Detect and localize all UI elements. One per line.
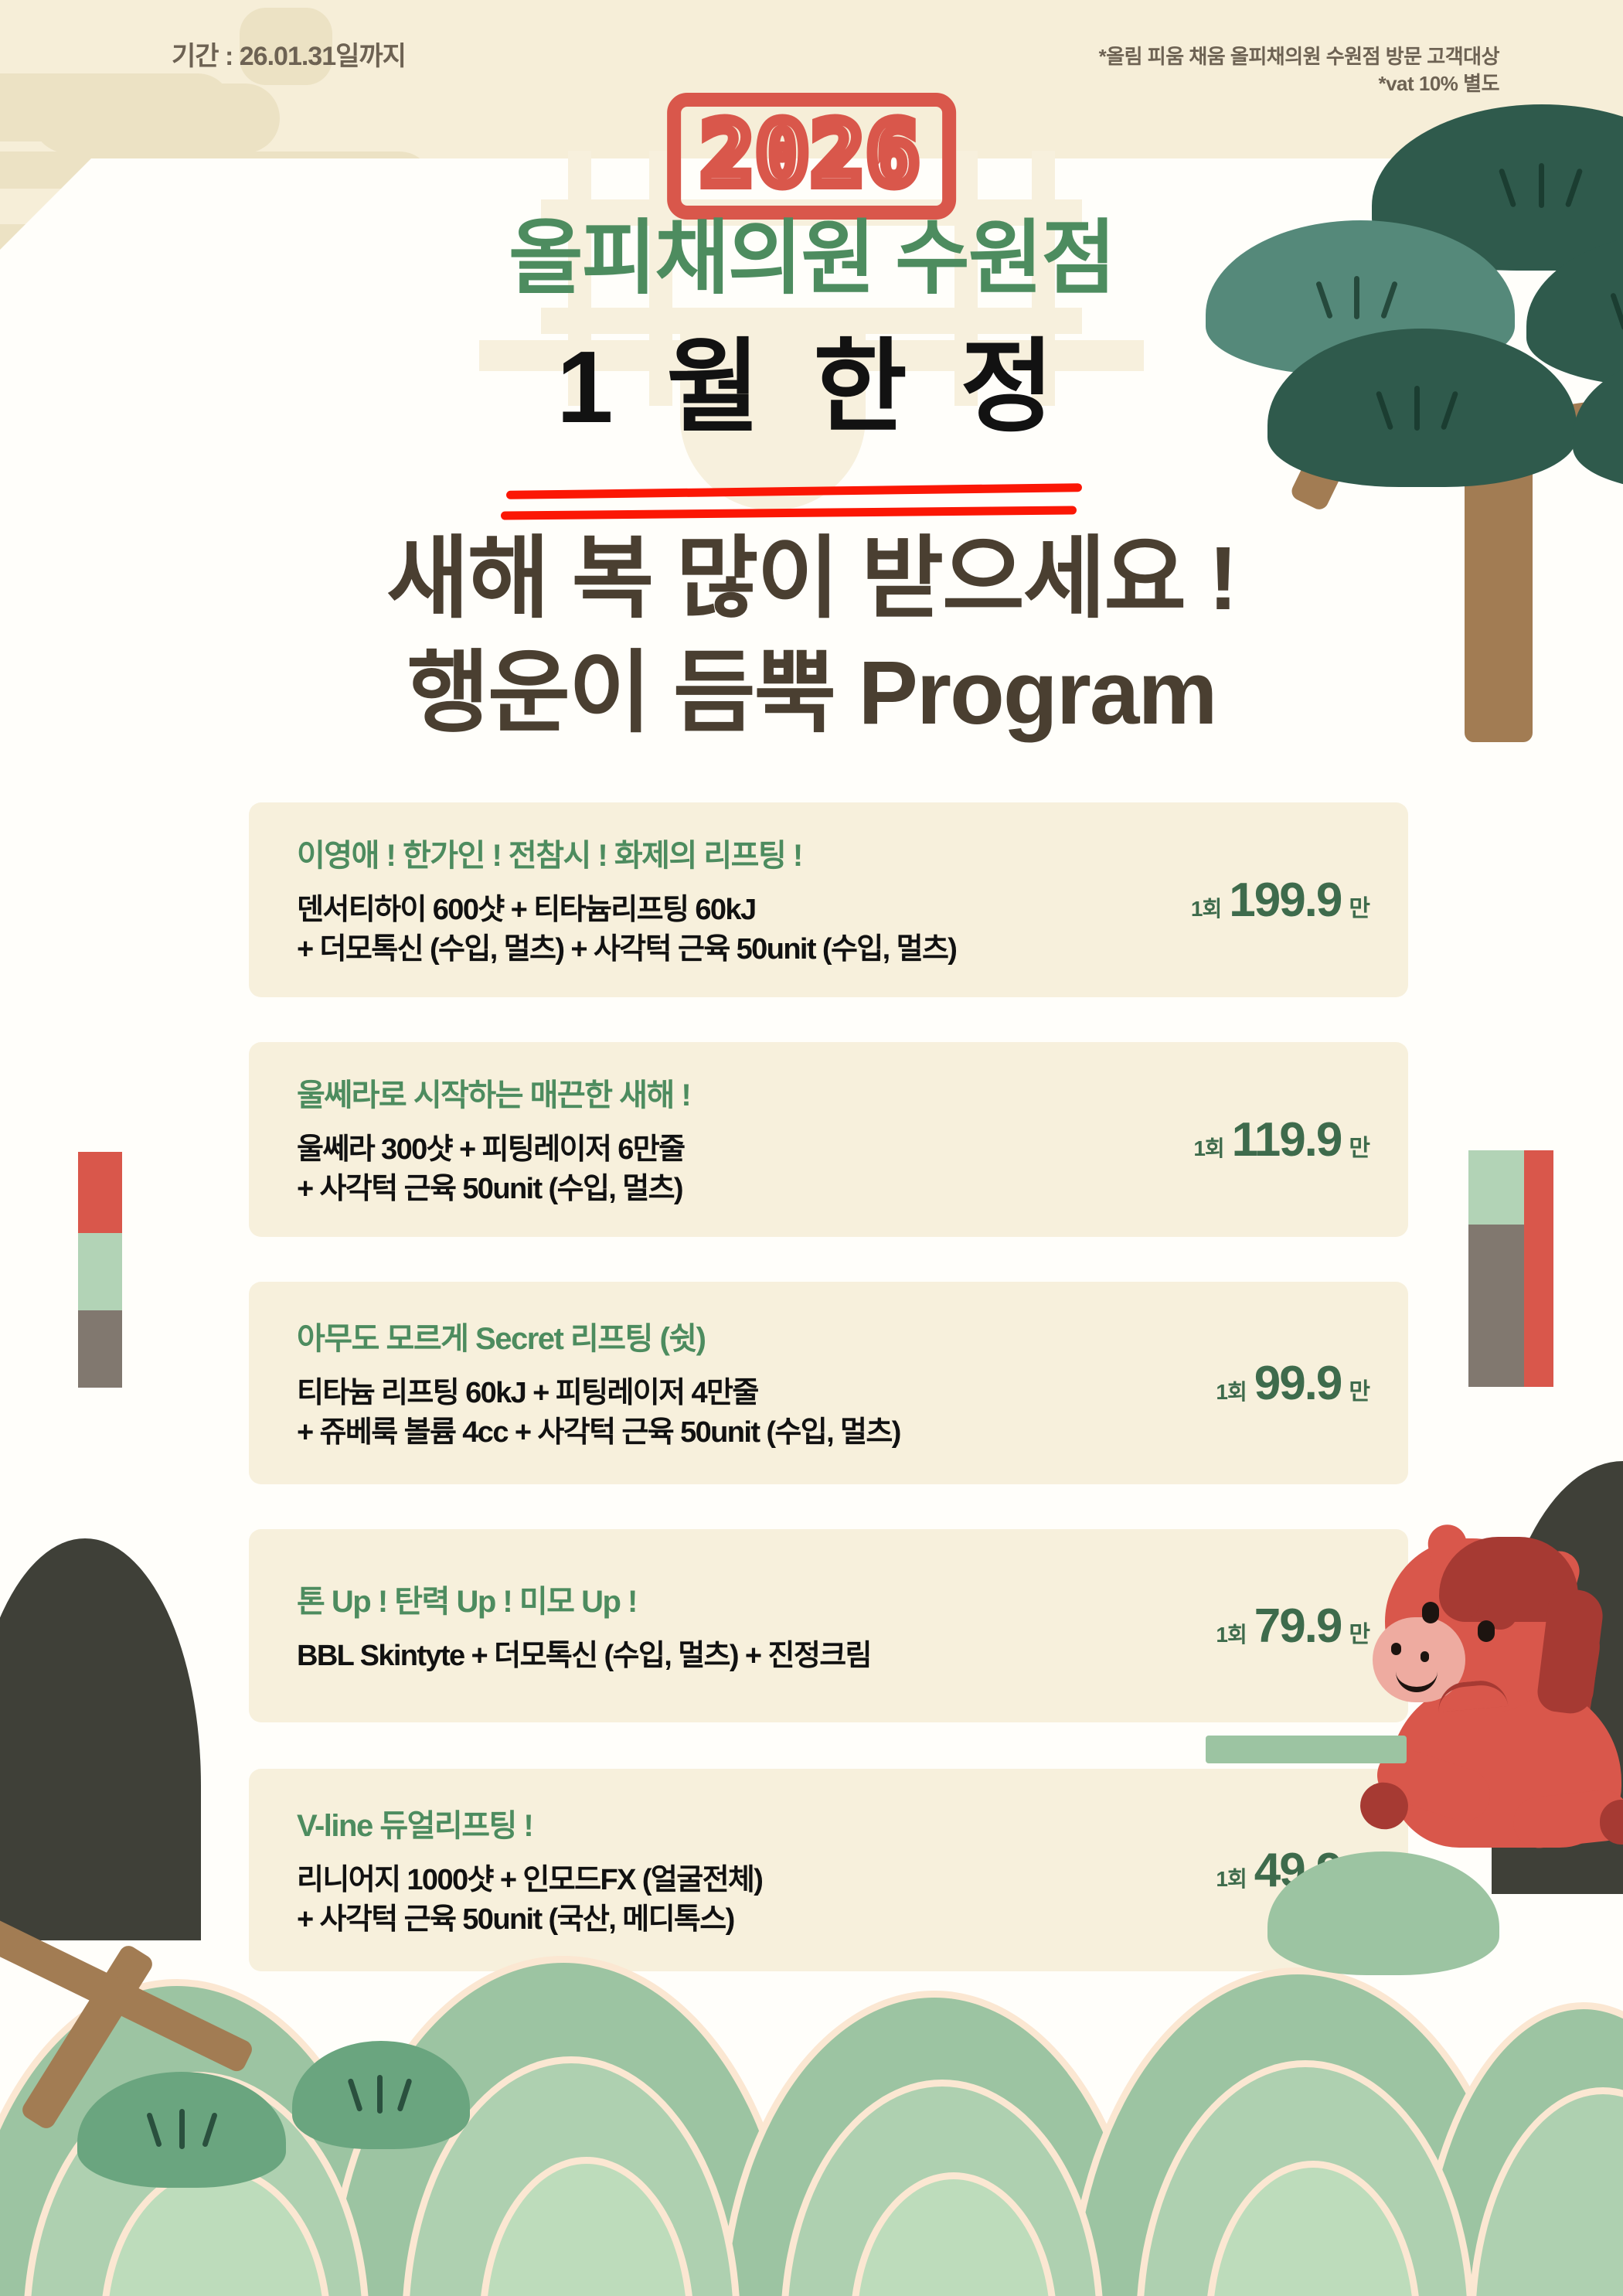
price-unit: 만 bbox=[1349, 1129, 1370, 1163]
program-text-block: 아무도 모르게 Secret 리프팅 (쉿) 티타늄 리프팅 60kJ + 피팅… bbox=[297, 1313, 1203, 1453]
horse-eye-right bbox=[1478, 1620, 1495, 1642]
program-title: 울쎄라로 시작하는 매끈한 새해 ! bbox=[297, 1070, 1181, 1115]
program-title: 이영애 ! 한가인 ! 전참시 ! 화제의 리프팅 ! bbox=[297, 830, 1179, 875]
horse-nostril-left bbox=[1391, 1643, 1401, 1655]
program-description: 리니어지 1000샷 + 인모드FX (얼굴전체) + 사각턱 근육 50uni… bbox=[297, 1861, 1203, 1940]
price-number: 199.9 bbox=[1229, 873, 1341, 928]
disclaimer-block: *올림 피움 채움 올피채의원 수원점 방문 고객대상 *vat 10% 별도 bbox=[1099, 43, 1499, 98]
price-number: 49.9 bbox=[1254, 1843, 1342, 1898]
price-count-label: 1회 bbox=[1193, 1132, 1223, 1163]
price-count-label: 1회 bbox=[1216, 1618, 1246, 1649]
horse-mane-tuft-a bbox=[1444, 1576, 1479, 1620]
month-limited-title: 1 월 한 정 bbox=[0, 336, 1623, 438]
poster-root: 기간 : 26.01.31일까지 *올림 피움 채움 올피채의원 수원점 방문 … bbox=[0, 0, 1623, 2296]
year-badge: 2026 bbox=[667, 93, 956, 220]
program-title: V-line 듀얼리프팅 ! bbox=[297, 1800, 1203, 1845]
price-unit: 만 bbox=[1349, 889, 1370, 923]
program-text-block: 이영애 ! 한가인 ! 전참시 ! 화제의 리프팅 ! 덴서티하이 600샷 +… bbox=[297, 830, 1179, 969]
program-card[interactable]: 이영애 ! 한가인 ! 전참시 ! 화제의 리프팅 ! 덴서티하이 600샷 +… bbox=[249, 802, 1408, 997]
program-title: 아무도 모르게 Secret 리프팅 (쉿) bbox=[297, 1313, 1203, 1358]
disclaimer-line-1: *올림 피움 채움 올피채의원 수원점 방문 고객대상 bbox=[1099, 43, 1499, 70]
program-card[interactable]: 톤 Up ! 탄력 Up ! 미모 Up ! BBL Skintyte + 더모… bbox=[249, 1529, 1408, 1722]
horse-mascot bbox=[1345, 1515, 1623, 1879]
program-text-block: V-line 듀얼리프팅 ! 리니어지 1000샷 + 인모드FX (얼굴전체)… bbox=[297, 1800, 1203, 1940]
headline-line-2: 행운이 듬뿍 Program bbox=[0, 648, 1623, 738]
price-number: 79.9 bbox=[1254, 1599, 1342, 1654]
price-unit: 만 bbox=[1349, 1372, 1370, 1406]
clinic-name: 올피채의원 수원점 bbox=[0, 218, 1623, 299]
year-badge-text: 2026 bbox=[701, 104, 922, 205]
program-price: 1회 199.9 만 bbox=[1191, 873, 1374, 928]
price-count-label: 1회 bbox=[1191, 892, 1221, 923]
hill-front-3 bbox=[850, 2172, 1057, 2296]
program-description: 울쎄라 300샷 + 피팅레이저 6만줄 + 사각턱 근육 50unit (수입… bbox=[297, 1130, 1181, 1209]
price-count-label: 1회 bbox=[1216, 1375, 1246, 1406]
price-count-label: 1회 bbox=[1216, 1862, 1246, 1893]
hill-front-2 bbox=[479, 2157, 694, 2296]
program-description: 덴서티하이 600샷 + 티타늄리프팅 60kJ + 더모톡신 (수입, 멀츠)… bbox=[297, 891, 1179, 969]
program-title: 톤 Up ! 탄력 Up ! 미모 Up ! bbox=[297, 1576, 1203, 1621]
program-description: 티타늄 리프팅 60kJ + 피팅레이저 4만줄 + 쥬베룩 볼륨 4cc + … bbox=[297, 1374, 1203, 1453]
headline-line-1: 새해 복 많이 받으세요 ! bbox=[0, 533, 1623, 623]
program-text-block: 톤 Up ! 탄력 Up ! 미모 Up ! BBL Skintyte + 더모… bbox=[297, 1576, 1203, 1676]
disclaimer-line-2: *vat 10% 별도 bbox=[1099, 70, 1499, 97]
hill-front-4 bbox=[1206, 2161, 1421, 2296]
program-text-block: 울쎄라로 시작하는 매끈한 새해 ! 울쎄라 300샷 + 피팅레이저 6만줄 … bbox=[297, 1070, 1181, 1209]
price-number: 119.9 bbox=[1232, 1112, 1342, 1167]
program-price: 1회 119.9 만 bbox=[1193, 1112, 1374, 1167]
horse-eye-left bbox=[1422, 1602, 1439, 1623]
hill-front-1 bbox=[100, 2165, 331, 2296]
program-card[interactable]: 아무도 모르게 Secret 리프팅 (쉿) 티타늄 리프팅 60kJ + 피팅… bbox=[249, 1282, 1408, 1484]
program-price: 1회 99.9 만 bbox=[1216, 1356, 1374, 1411]
period-text: 기간 : 26.01.31일까지 bbox=[172, 35, 406, 73]
program-card[interactable]: V-line 듀얼리프팅 ! 리니어지 1000샷 + 인모드FX (얼굴전체)… bbox=[249, 1769, 1408, 1971]
program-description: BBL Skintyte + 더모톡신 (수입, 멀츠) + 진정크림 bbox=[297, 1637, 1203, 1676]
program-card[interactable]: 울쎄라로 시작하는 매끈한 새해 ! 울쎄라 300샷 + 피팅레이저 6만줄 … bbox=[249, 1042, 1408, 1237]
horse-nostril-right bbox=[1421, 1651, 1429, 1662]
price-number: 99.9 bbox=[1254, 1356, 1342, 1411]
